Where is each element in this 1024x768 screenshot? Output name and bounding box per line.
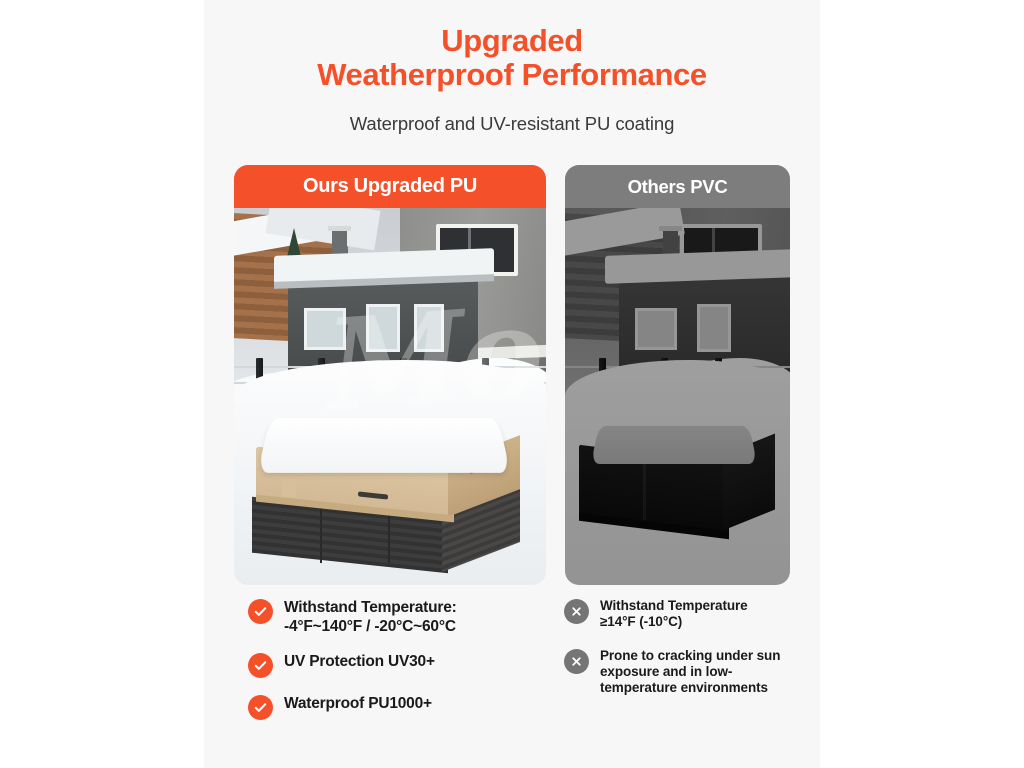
feature-item: Withstand Temperature: -4°F~140°F / -20°… <box>248 598 548 636</box>
feature-list-ours: Withstand Temperature: -4°F~140°F / -20°… <box>248 598 548 736</box>
dark-cover-snow-top <box>591 426 757 464</box>
feature-item: Prone to cracking under sun exposure and… <box>564 648 799 696</box>
content-canvas: Upgraded Weatherproof Performance Waterp… <box>204 0 820 768</box>
porch-window-1 <box>304 308 346 350</box>
feature-text: Withstand Temperature: -4°F~140°F / -20°… <box>284 598 457 636</box>
porch-door <box>414 304 444 352</box>
card-others: Others PVC <box>565 165 790 585</box>
title-line-2: Weatherproof Performance <box>204 58 820 92</box>
comparison-cards: Ours Upgraded PU <box>204 165 820 585</box>
title-line-1: Upgraded <box>204 24 820 58</box>
check-icon <box>248 599 273 624</box>
porch-window-2 <box>697 304 731 352</box>
cover-snow-top <box>257 418 510 473</box>
subtitle: Waterproof and UV-resistant PU coating <box>204 113 820 135</box>
porch-window-2 <box>366 304 400 352</box>
chimney-snow-cap <box>659 226 682 231</box>
cabinet-seam <box>320 507 322 563</box>
cross-icon <box>564 599 589 624</box>
chimney-snow-cap <box>328 226 351 231</box>
photo-others <box>565 208 790 585</box>
feature-item: Waterproof PU1000+ <box>248 694 548 720</box>
porch-window-1 <box>635 308 677 350</box>
check-icon <box>248 653 273 678</box>
card-ours-header: Ours Upgraded PU <box>234 165 546 208</box>
feature-text: Waterproof PU1000+ <box>284 694 432 713</box>
feature-text: Prone to cracking under sun exposure and… <box>600 648 799 696</box>
infographic-page: Upgraded Weatherproof Performance Waterp… <box>0 0 1024 768</box>
cross-icon <box>564 649 589 674</box>
hot-tub-with-cover <box>242 413 537 563</box>
photo-ours: Mo <box>234 208 546 585</box>
hot-tub-dark-cover <box>569 422 779 547</box>
headline-block: Upgraded Weatherproof Performance <box>204 24 820 92</box>
feature-text: UV Protection UV30+ <box>284 652 435 671</box>
card-ours: Ours Upgraded PU <box>234 165 546 585</box>
feature-item: UV Protection UV30+ <box>248 652 548 678</box>
feature-text: Withstand Temperature ≥14°F (-10°C) <box>600 598 748 630</box>
feature-item: Withstand Temperature ≥14°F (-10°C) <box>564 598 799 630</box>
dark-cover-crease <box>643 458 646 520</box>
feature-list-others: Withstand Temperature ≥14°F (-10°C) Pron… <box>564 598 799 714</box>
card-others-header: Others PVC <box>565 165 790 208</box>
check-icon <box>248 695 273 720</box>
